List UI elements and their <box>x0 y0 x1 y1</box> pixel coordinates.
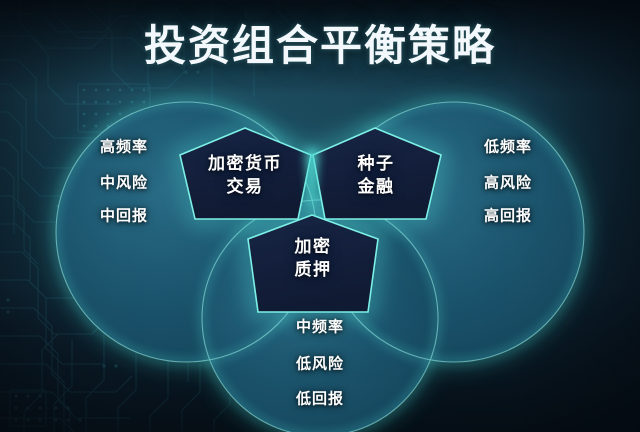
right-attr-return: 高回报 <box>484 205 532 226</box>
crypto-staking-line-1: 加密 <box>295 236 332 259</box>
bottom-attr-frequency: 中频率 <box>296 316 344 337</box>
title-container: 投资组合平衡策略 <box>0 12 640 73</box>
seed-finance-line-1: 种子 <box>358 153 395 176</box>
crypto-staking-line-2: 质押 <box>295 259 332 282</box>
left-attr-return: 中回报 <box>100 205 148 226</box>
pentagon-label-crypto-trading: 加密货币 交易 <box>208 153 282 199</box>
left-attr-risk: 中风险 <box>100 172 148 193</box>
seed-finance-line-2: 金融 <box>358 176 395 199</box>
crypto-trading-line-2: 交易 <box>208 176 282 199</box>
pentagon-label-seed-finance: 种子 金融 <box>358 153 395 199</box>
crypto-trading-line-1: 加密货币 <box>208 153 282 176</box>
page-title: 投资组合平衡策略 <box>144 12 496 73</box>
left-attr-frequency: 高频率 <box>100 136 148 157</box>
pentagon-label-crypto-staking: 加密 质押 <box>295 236 332 282</box>
bottom-attr-risk: 低风险 <box>296 353 344 374</box>
bottom-attr-return: 低回报 <box>296 388 344 409</box>
infographic-canvas: 投资组合平衡策略 高频率 中风险 中回报 低频率 高风险 高回报 中频率 低风险… <box>0 0 640 432</box>
right-attr-risk: 高风险 <box>484 172 532 193</box>
right-attr-frequency: 低频率 <box>484 136 532 157</box>
